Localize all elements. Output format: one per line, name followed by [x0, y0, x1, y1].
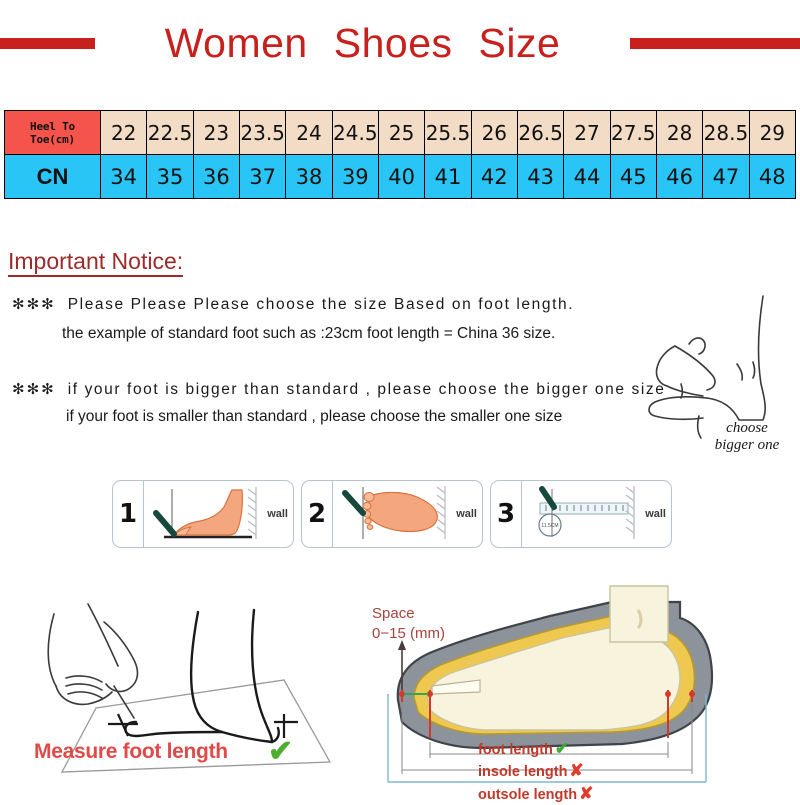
- cell-cn: 48: [749, 155, 795, 199]
- wall-label-1: wall: [267, 508, 288, 520]
- size-conversion-table: Heel To Toe(cm) 22 22.5 23 23.5 24 24.5 …: [4, 110, 796, 199]
- cell-cn: 45: [610, 155, 656, 199]
- cell-cm: 28.5: [703, 111, 749, 155]
- size-chart-page: WomenShoesSize Heel To Toe(cm) 22 22.5 2…: [0, 0, 800, 800]
- title-bar-left: [0, 38, 95, 49]
- measure-check-icon: ✔: [268, 734, 293, 769]
- cell-cm: 28: [656, 111, 702, 155]
- label-insole-length: insole length✘: [478, 760, 778, 782]
- cell-cm: 27: [564, 111, 610, 155]
- page-title-row: WomenShoesSize: [0, 14, 800, 72]
- cell-cn: 39: [332, 155, 378, 199]
- label-outsole-length: outsole length✘: [478, 783, 778, 805]
- cell-cn: 46: [656, 155, 702, 199]
- choose-bigger-one-caption: choose bigger one: [692, 420, 800, 454]
- step-panel-2: 2: [301, 480, 483, 548]
- cell-cn: 37: [239, 155, 285, 199]
- space-label-line-2: 0−15 (mm): [372, 624, 445, 644]
- table-row-cn: CN 34 35 36 37 38 39 40 41 42 43 44 45 4…: [5, 155, 796, 199]
- cell-cm: 24: [286, 111, 332, 155]
- space-label-line-1: Space: [372, 604, 445, 624]
- title-bar-right: [630, 38, 800, 49]
- cell-cn: 41: [425, 155, 471, 199]
- table-row-heel-to-toe: Heel To Toe(cm) 22 22.5 23 23.5 24 24.5 …: [5, 111, 796, 155]
- step-number-1: 1: [113, 481, 144, 547]
- notice-line-1: ✻✻✻Please Please Please choose the size …: [12, 295, 574, 314]
- measure-steps: 1 wall 2: [112, 480, 672, 546]
- cell-cn: 36: [193, 155, 239, 199]
- foot-length-check-icon: ✔: [555, 739, 569, 758]
- cell-cn: 34: [101, 155, 147, 199]
- step-number-2: 2: [302, 481, 333, 547]
- measure-foot-caption: Measure foot length: [34, 740, 228, 764]
- cell-cn: 38: [286, 155, 332, 199]
- important-notice-heading: Important Notice:: [8, 249, 183, 277]
- notice-line-1-text: Please Please Please choose the size Bas…: [68, 296, 574, 313]
- step-2-illustration: wall: [333, 481, 482, 547]
- cell-cn: 43: [517, 155, 563, 199]
- cell-cn: 42: [471, 155, 517, 199]
- cell-cn: 47: [703, 155, 749, 199]
- cell-cm: 26.5: [517, 111, 563, 155]
- outsole-length-cross-icon: ✘: [579, 784, 593, 803]
- notice-line-2: the example of standard foot such as :23…: [62, 325, 555, 343]
- cell-cm: 24.5: [332, 111, 378, 155]
- asterisk-marker: ✻✻✻: [12, 381, 56, 398]
- cell-cm: 23: [193, 111, 239, 155]
- notice-line-4: if your foot is smaller than standard , …: [66, 408, 562, 426]
- cell-cn: 35: [147, 155, 193, 199]
- title-word-shoes: Shoes: [334, 20, 453, 66]
- space-label: Space 0−15 (mm): [372, 604, 445, 645]
- step-number-3: 3: [491, 481, 522, 547]
- notice-line-3-text: if your foot is bigger than standard , p…: [68, 381, 666, 398]
- cell-cm: 22: [101, 111, 147, 155]
- shoe-length-labels: foot length✔ insole length✘ outsole leng…: [478, 738, 778, 805]
- step-3-illustration: 11.5CM wall: [522, 481, 671, 547]
- row-label-heel-to-toe: Heel To Toe(cm): [5, 111, 101, 155]
- choose-line-1: choose: [692, 420, 800, 437]
- cell-cm: 26: [471, 111, 517, 155]
- choose-line-2: bigger one: [692, 437, 800, 454]
- label-foot-length: foot length✔: [478, 738, 778, 760]
- cell-cm: 29: [749, 111, 795, 155]
- cell-cm: 27.5: [610, 111, 656, 155]
- label-outsole-length-text: outsole length: [478, 787, 577, 803]
- step-panel-1: 1 wall: [112, 480, 294, 548]
- wall-label-3: wall: [645, 508, 666, 520]
- row-label-cn: CN: [5, 155, 101, 199]
- wall-label-2: wall: [456, 508, 477, 520]
- step-panel-3: 3 11.5CM: [490, 480, 672, 548]
- cell-cm: 23.5: [239, 111, 285, 155]
- insole-length-cross-icon: ✘: [569, 761, 583, 780]
- page-title: WomenShoesSize: [95, 23, 630, 64]
- cell-cm: 25: [378, 111, 424, 155]
- title-word-size: Size: [479, 20, 561, 66]
- cell-cm: 22.5: [147, 111, 193, 155]
- label-insole-length-text: insole length: [478, 764, 567, 780]
- cell-cm: 25.5: [425, 111, 471, 155]
- asterisk-marker: ✻✻✻: [12, 296, 56, 313]
- cell-cn: 44: [564, 155, 610, 199]
- title-word-women: Women: [165, 20, 308, 66]
- notice-line-3: ✻✻✻if your foot is bigger than standard …: [12, 380, 665, 399]
- ruler-mark-label: 11.5CM: [541, 523, 558, 529]
- label-foot-length-text: foot length: [478, 742, 553, 758]
- cell-cn: 40: [378, 155, 424, 199]
- step-1-illustration: wall: [144, 481, 293, 547]
